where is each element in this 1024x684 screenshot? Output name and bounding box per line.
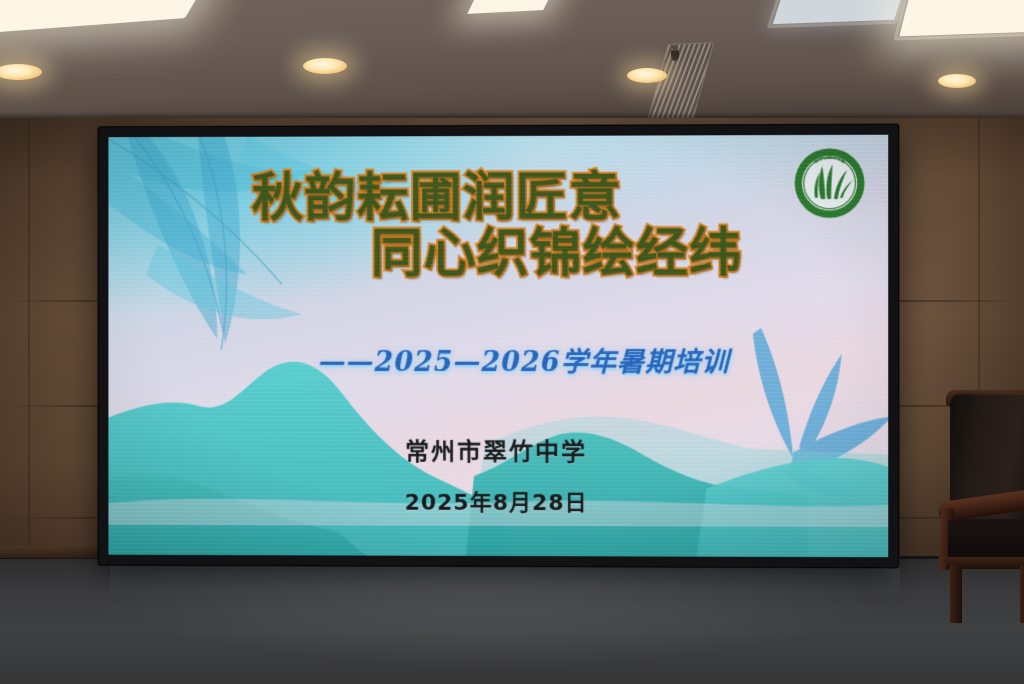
ceiling-panel-light-1 xyxy=(0,0,205,34)
ceiling-panel-light-2 xyxy=(467,0,556,14)
ceiling-downlight-1 xyxy=(0,64,42,80)
ceiling-downlight-3 xyxy=(627,68,667,83)
ceiling-downlight-4 xyxy=(938,74,976,88)
led-video-wall[interactable]: CHANGZHOU CUIZHU MIDDLE SCHOOL 常州市翠竹中学 秋… xyxy=(99,125,899,568)
school-name-text: 常州市翠竹中学 xyxy=(108,431,888,467)
wall-seam-vertical xyxy=(28,118,30,560)
sprinkler-head-icon xyxy=(671,50,679,61)
wooden-armchair[interactable] xyxy=(936,393,1024,623)
hvac-diffuser-vent xyxy=(646,42,715,126)
conference-room-scene: CHANGZHOU CUIZHU MIDDLE SCHOOL 常州市翠竹中学 秋… xyxy=(0,0,1024,684)
slide-title-block: 秋韵耘圃润匠意 同心织锦绘经纬 xyxy=(108,169,888,283)
slide-date-text: 2025年8月28日 xyxy=(108,484,888,518)
chair-leg xyxy=(1020,565,1024,623)
presentation-slide[interactable]: CHANGZHOU CUIZHU MIDDLE SCHOOL 常州市翠竹中学 秋… xyxy=(108,135,888,558)
floor xyxy=(0,556,1024,684)
slide-title-line-2: 同心织锦绘经纬 xyxy=(108,225,888,282)
chair-leg xyxy=(950,565,962,623)
slide-subtitle: ——2025—2026学年暑期培训 xyxy=(108,340,888,379)
slide-footer: 常州市翠竹中学 2025年8月28日 xyxy=(108,431,888,518)
ceiling xyxy=(0,0,1024,122)
ceiling-panel-light-4 xyxy=(899,0,1024,36)
slide-title-line-1: 秋韵耘圃润匠意 xyxy=(108,169,888,227)
ceiling-downlight-2 xyxy=(303,58,347,74)
